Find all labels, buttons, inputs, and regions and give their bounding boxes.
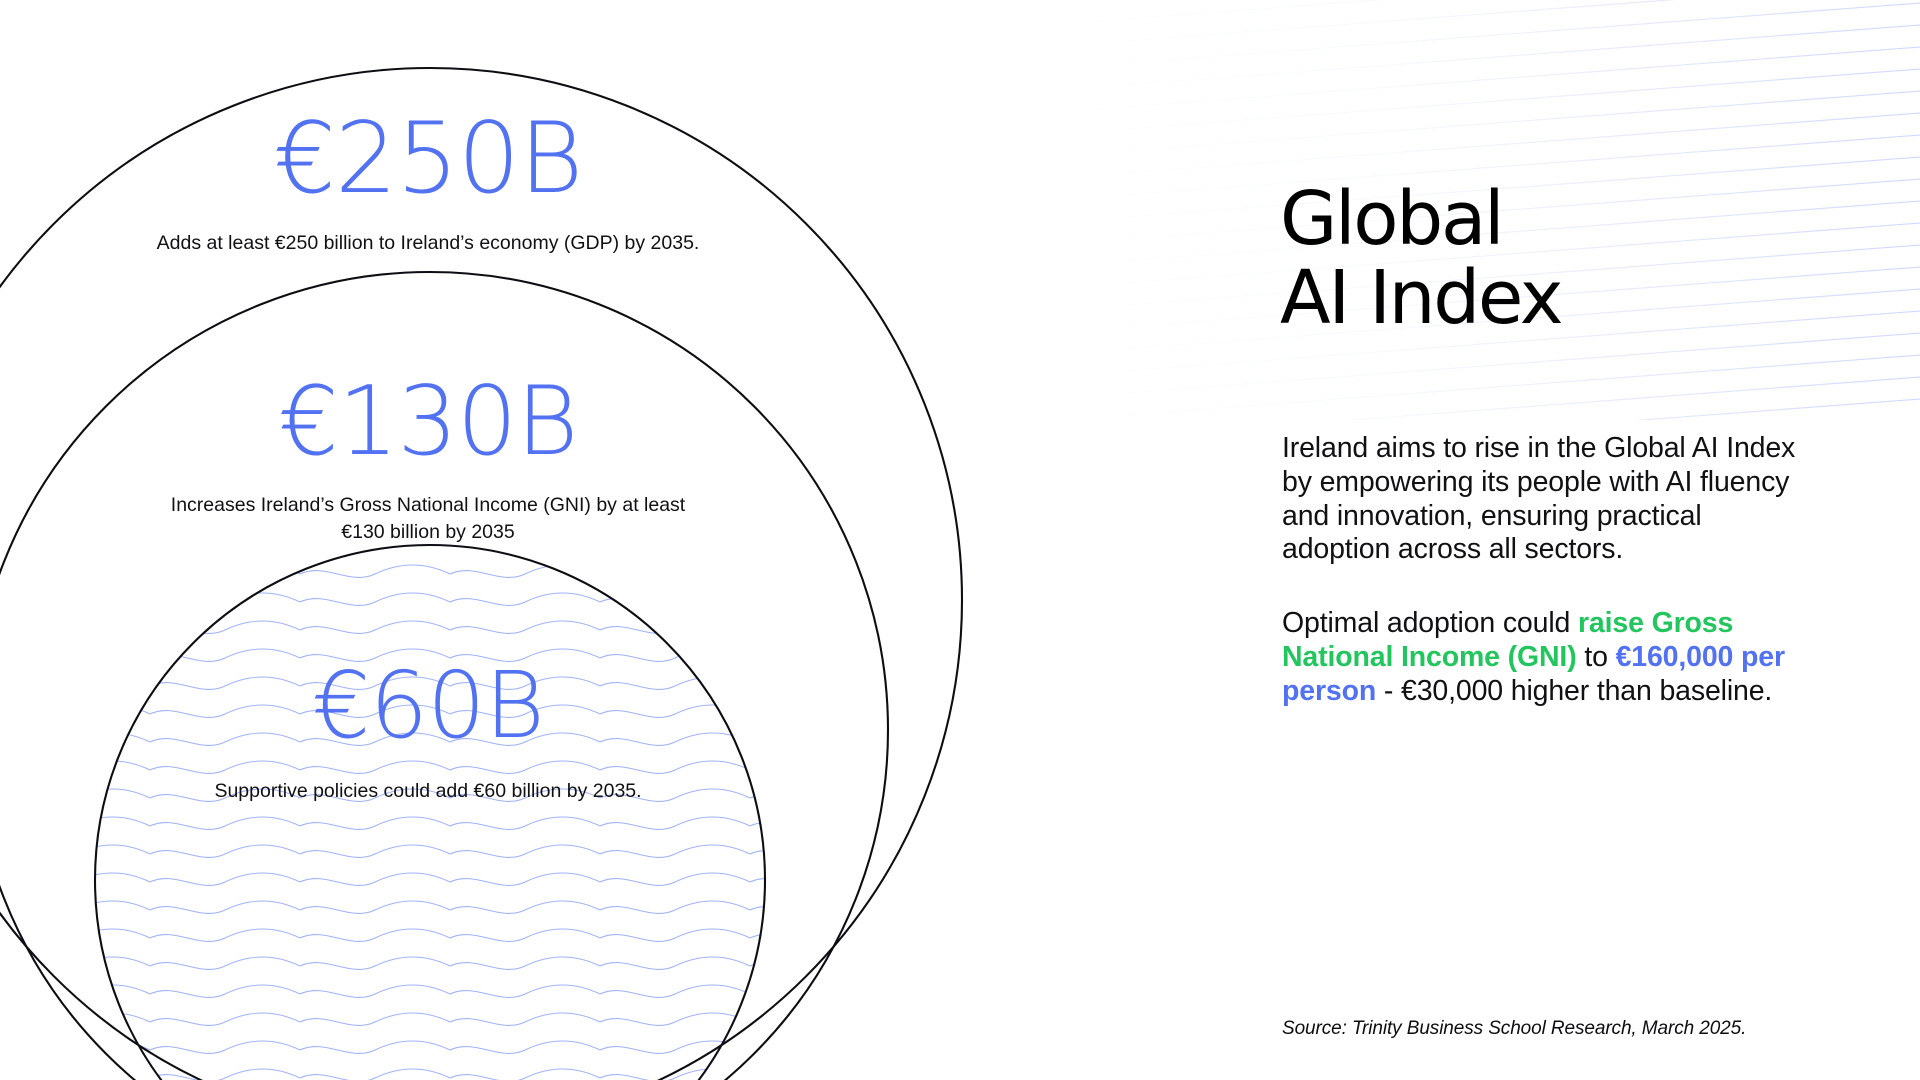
ring-value-250b: €250B: [148, 110, 708, 208]
paragraph-2-prefix: Optimal adoption could: [1282, 607, 1578, 639]
ring-label-130b: €130B Increases Ireland’s Gross National…: [148, 375, 708, 546]
ring-description-250b: Adds at least €250 billion to Ireland’s …: [148, 230, 708, 257]
ring-value-60b: €60B: [148, 660, 708, 752]
nested-circles-diagram: €250B Adds at least €250 billion to Irel…: [0, 0, 1250, 1080]
paragraph-2-mid: to: [1577, 641, 1616, 673]
body-paragraph-2: Optimal adoption could raise Gross Natio…: [1282, 607, 1807, 708]
text-panel: GlobalAI Index Ireland aims to rise in t…: [1280, 0, 1920, 1080]
page-title-line-2: AI Index: [1280, 255, 1561, 341]
ring-value-130b: €130B: [148, 375, 708, 470]
ring-description-60b: Supportive policies could add €60 billio…: [148, 778, 708, 805]
ring-label-60b: €60B Supportive policies could add €60 b…: [148, 660, 708, 805]
ring-description-130b: Increases Ireland’s Gross National Incom…: [148, 492, 708, 546]
ring-label-250b: €250B Adds at least €250 billion to Irel…: [148, 110, 708, 257]
wave-pattern-fill: [60, 530, 820, 1080]
paragraph-2-suffix: - €30,000 higher than baseline.: [1376, 675, 1772, 707]
page-title-line-1: Global: [1280, 176, 1502, 262]
infographic-slide: €250B Adds at least €250 billion to Irel…: [0, 0, 1920, 1080]
page-title: GlobalAI Index: [1280, 180, 1900, 340]
body-copy: Ireland aims to rise in the Global AI In…: [1282, 432, 1807, 708]
source-note: Source: Trinity Business School Research…: [1282, 1018, 1882, 1040]
body-paragraph-1: Ireland aims to rise in the Global AI In…: [1282, 432, 1807, 567]
